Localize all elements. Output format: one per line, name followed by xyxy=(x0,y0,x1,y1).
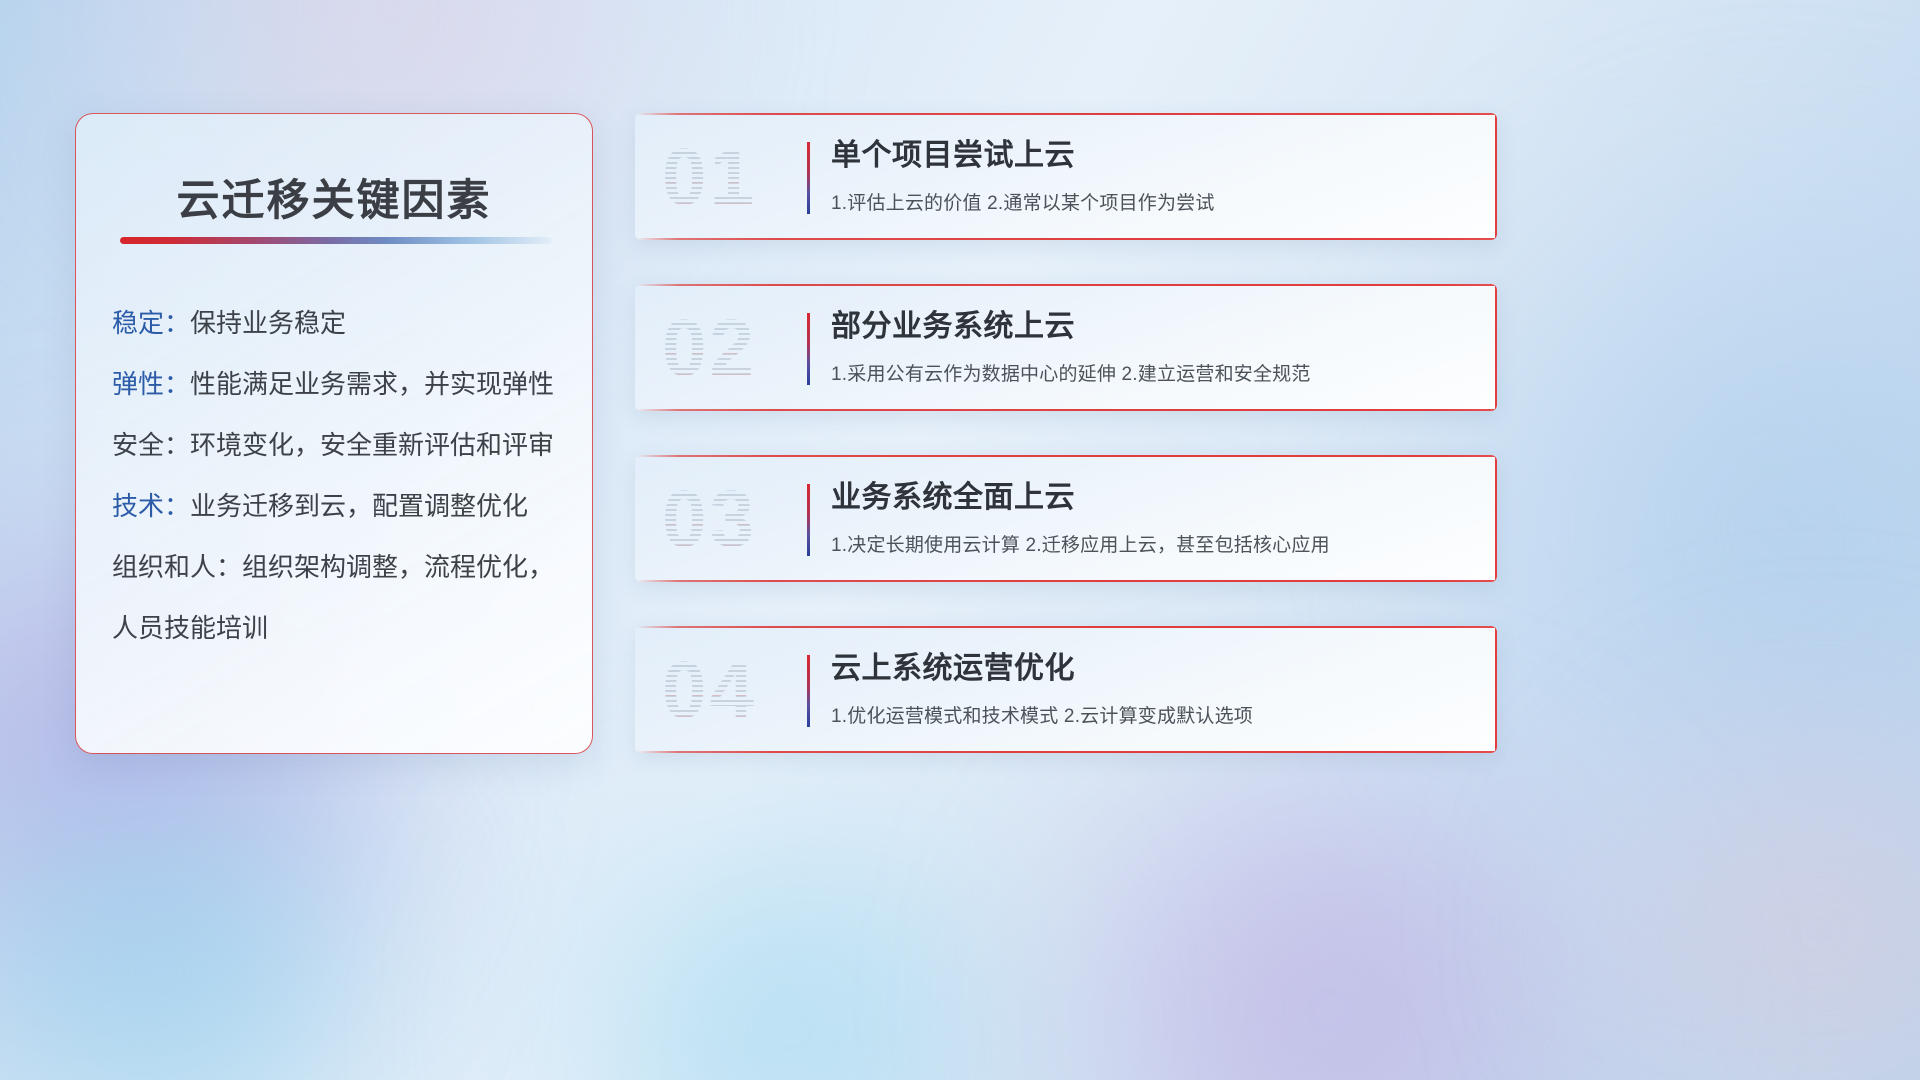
key-factor-value: 人员技能培训 xyxy=(112,613,268,643)
card-body: 云上系统运营优化1.优化运营模式和技术模式 2.云计算变成默认选项 xyxy=(831,652,1473,728)
card-top-accent-line xyxy=(635,113,1497,115)
slide-stage: 云迁移关键因素 稳定：保持业务稳定弹性：性能满足业务需求，并实现弹性安全：环境变… xyxy=(0,0,1920,1080)
key-factor-value: 保持业务稳定 xyxy=(190,308,346,338)
key-factor-label: 技术： xyxy=(112,491,190,521)
migration-step-card[interactable]: 0202部分业务系统上云1.采用公有云作为数据中心的延伸 2.建立运营和安全规范 xyxy=(635,284,1497,411)
step-description: 1.决定长期使用云计算 2.迁移应用上云，甚至包括核心应用 xyxy=(831,530,1473,557)
step-number-tint: 02 xyxy=(662,308,757,388)
step-number-watermark: 0303 xyxy=(662,479,757,559)
migration-step-card[interactable]: 0404云上系统运营优化1.优化运营模式和技术模式 2.云计算变成默认选项 xyxy=(635,626,1497,753)
step-number-watermark: 0101 xyxy=(662,137,757,217)
card-divider-bar xyxy=(807,142,810,214)
card-bottom-accent-line xyxy=(635,751,1497,753)
step-number-tint: 01 xyxy=(662,137,757,217)
card-body: 业务系统全面上云1.决定长期使用云计算 2.迁移应用上云，甚至包括核心应用 xyxy=(831,481,1473,557)
key-factor-label: 弹性： xyxy=(112,369,190,399)
step-description: 1.评估上云的价值 2.通常以某个项目作为尝试 xyxy=(831,188,1473,215)
title-underline-rule xyxy=(120,237,552,244)
key-factors-list: 稳定：保持业务稳定弹性：性能满足业务需求，并实现弹性安全：环境变化，安全重新评估… xyxy=(112,310,572,641)
key-factor-row: 安全：环境变化，安全重新评估和评审 xyxy=(112,432,572,458)
step-description: 1.采用公有云作为数据中心的延伸 2.建立运营和安全规范 xyxy=(831,359,1473,386)
step-number-tint: 03 xyxy=(662,479,757,559)
card-bottom-accent-line xyxy=(635,238,1497,240)
step-title: 业务系统全面上云 xyxy=(831,481,1473,516)
card-bottom-accent-line xyxy=(635,409,1497,411)
migration-steps-list: 0101单个项目尝试上云1.评估上云的价值 2.通常以某个项目作为尝试0202部… xyxy=(635,113,1497,753)
step-title: 部分业务系统上云 xyxy=(831,310,1473,345)
card-body: 部分业务系统上云1.采用公有云作为数据中心的延伸 2.建立运营和安全规范 xyxy=(831,310,1473,386)
key-factor-row: 技术：业务迁移到云，配置调整优化 xyxy=(112,493,572,519)
card-top-accent-line xyxy=(635,455,1497,457)
card-right-accent-line xyxy=(1495,284,1497,411)
migration-step-card[interactable]: 0101单个项目尝试上云1.评估上云的价值 2.通常以某个项目作为尝试 xyxy=(635,113,1497,240)
migration-step-card[interactable]: 0303业务系统全面上云1.决定长期使用云计算 2.迁移应用上云，甚至包括核心应… xyxy=(635,455,1497,582)
step-number-watermark: 0202 xyxy=(662,308,757,388)
card-bottom-accent-line xyxy=(635,580,1497,582)
step-description: 1.优化运营模式和技术模式 2.云计算变成默认选项 xyxy=(831,701,1473,728)
card-divider-bar xyxy=(807,313,810,385)
key-factor-row: 组织和人：组织架构调整，流程优化， xyxy=(112,554,572,580)
key-factor-label: 稳定： xyxy=(112,308,190,338)
key-factors-panel: 云迁移关键因素 稳定：保持业务稳定弹性：性能满足业务需求，并实现弹性安全：环境变… xyxy=(75,113,593,754)
card-right-accent-line xyxy=(1495,626,1497,753)
card-top-accent-line xyxy=(635,626,1497,628)
key-factor-row: 稳定：保持业务稳定 xyxy=(112,310,572,336)
step-number-watermark: 0404 xyxy=(662,650,757,730)
key-factor-label: 安全： xyxy=(112,430,190,460)
step-title: 单个项目尝试上云 xyxy=(831,139,1473,174)
card-right-accent-line xyxy=(1495,455,1497,582)
key-factor-value: 环境变化，安全重新评估和评审 xyxy=(190,430,554,460)
page-title: 云迁移关键因素 xyxy=(76,166,592,228)
key-factor-row: 弹性：性能满足业务需求，并实现弹性 xyxy=(112,371,572,397)
card-body: 单个项目尝试上云1.评估上云的价值 2.通常以某个项目作为尝试 xyxy=(831,139,1473,215)
key-factor-row: 人员技能培训 xyxy=(112,615,572,641)
key-factor-value: 业务迁移到云，配置调整优化 xyxy=(190,491,528,521)
card-right-accent-line xyxy=(1495,113,1497,240)
key-factor-value: 性能满足业务需求，并实现弹性 xyxy=(190,369,554,399)
step-number-tint: 04 xyxy=(662,650,757,730)
card-divider-bar xyxy=(807,484,810,556)
card-divider-bar xyxy=(807,655,810,727)
key-factor-label: 组织和人： xyxy=(112,552,242,582)
step-title: 云上系统运营优化 xyxy=(831,652,1473,687)
key-factor-value: 组织架构调整，流程优化， xyxy=(242,552,554,582)
card-top-accent-line xyxy=(635,284,1497,286)
